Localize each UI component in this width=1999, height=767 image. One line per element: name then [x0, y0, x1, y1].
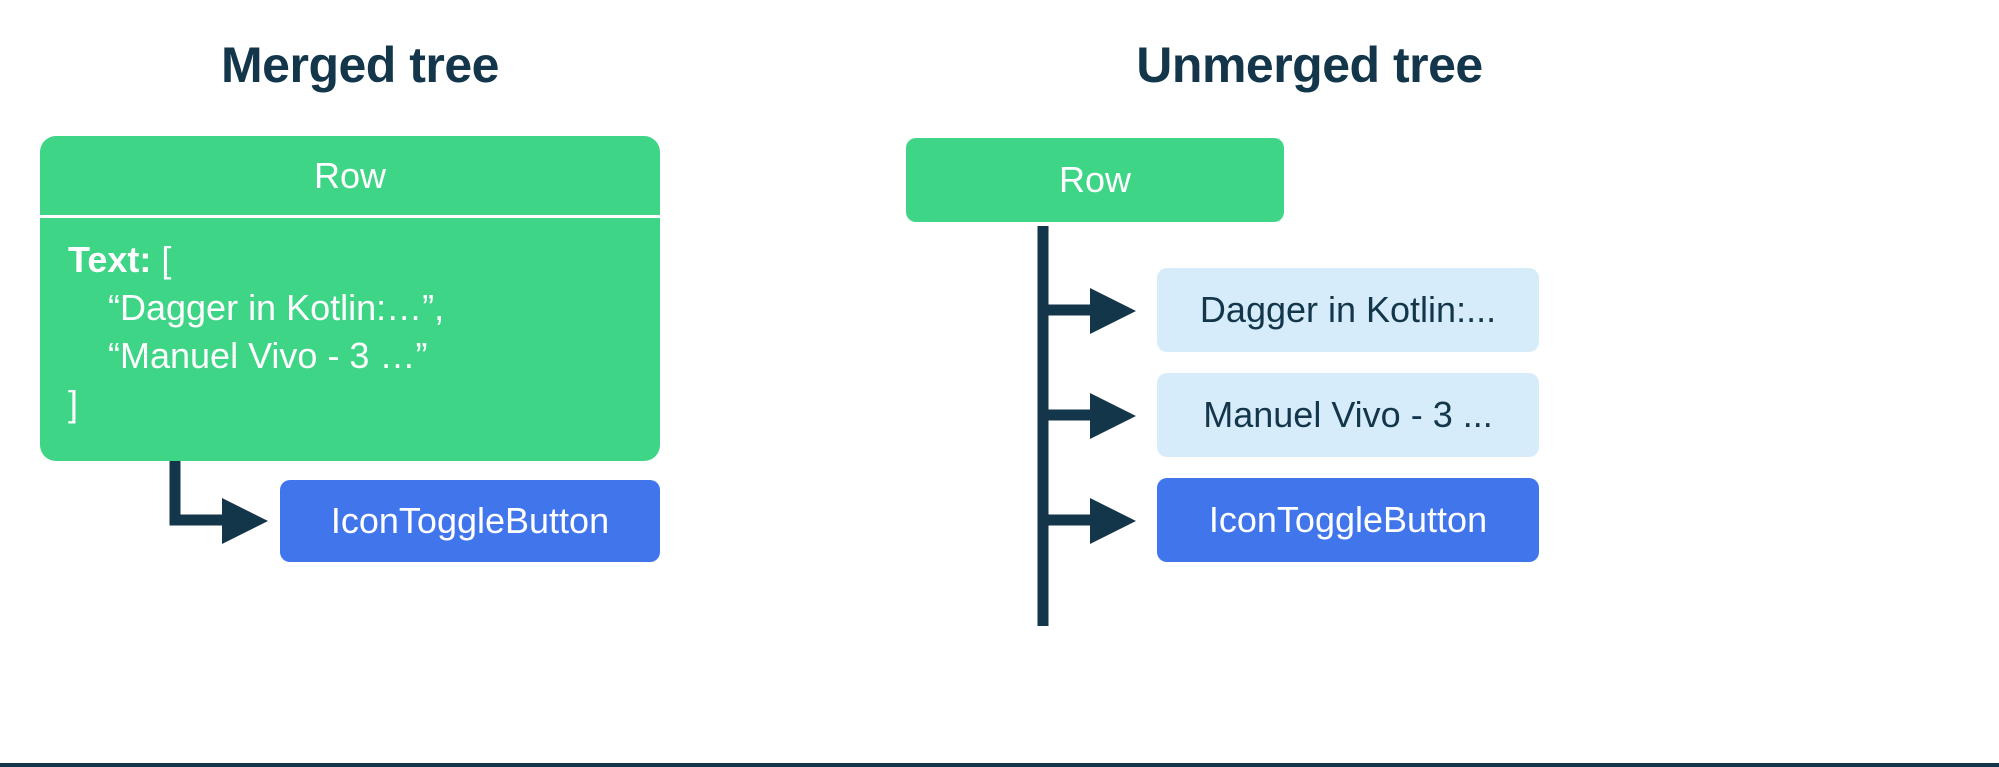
unmerged-root-row-label: Row: [1059, 159, 1131, 201]
merged-icontogglebutton-node[interactable]: IconToggleButton: [280, 480, 660, 562]
merged-root-card-body: Text: [ “Dagger in Kotlin:…”, “Manuel Vi…: [40, 218, 660, 428]
merged-open-bracket: [: [161, 239, 171, 280]
unmerged-child-label-2: IconToggleButton: [1209, 499, 1487, 541]
unmerged-child-node-0[interactable]: Dagger in Kotlin:...: [1157, 268, 1539, 352]
merged-tree-panel: Merged tree Row Text: [ “Dagger in Kotli…: [0, 0, 1000, 745]
merged-connector-arrowhead: [222, 498, 268, 544]
merged-root-card-header: Row: [40, 136, 660, 218]
unmerged-child-label-0: Dagger in Kotlin:...: [1200, 289, 1496, 331]
merged-tree-title: Merged tree: [0, 38, 860, 93]
merged-text-value-1: “Manuel Vivo - 3 …”: [108, 335, 427, 376]
bottom-divider: [0, 763, 1999, 767]
merged-text-value-0: “Dagger in Kotlin:…”,: [108, 287, 444, 328]
diagram-canvas: Merged tree Row Text: [ “Dagger in Kotli…: [0, 0, 1999, 767]
unmerged-child-node-2[interactable]: IconToggleButton: [1157, 478, 1539, 562]
merged-connector-elbow-path: [175, 461, 228, 520]
unmerged-child-label-1: Manuel Vivo - 3 ...: [1203, 394, 1492, 436]
merged-text-property-label: Text:: [68, 239, 151, 280]
unmerged-root-row-node[interactable]: Row: [906, 138, 1284, 222]
merged-close-bracket: ]: [68, 383, 78, 424]
merged-root-card[interactable]: Row Text: [ “Dagger in Kotlin:…”, “Manue…: [40, 136, 660, 461]
unmerged-tree-title: Unmerged tree: [810, 38, 1809, 93]
merged-icontogglebutton-label: IconToggleButton: [331, 500, 609, 542]
merged-root-card-header-label: Row: [314, 155, 386, 197]
unmerged-child-node-1[interactable]: Manuel Vivo - 3 ...: [1157, 373, 1539, 457]
